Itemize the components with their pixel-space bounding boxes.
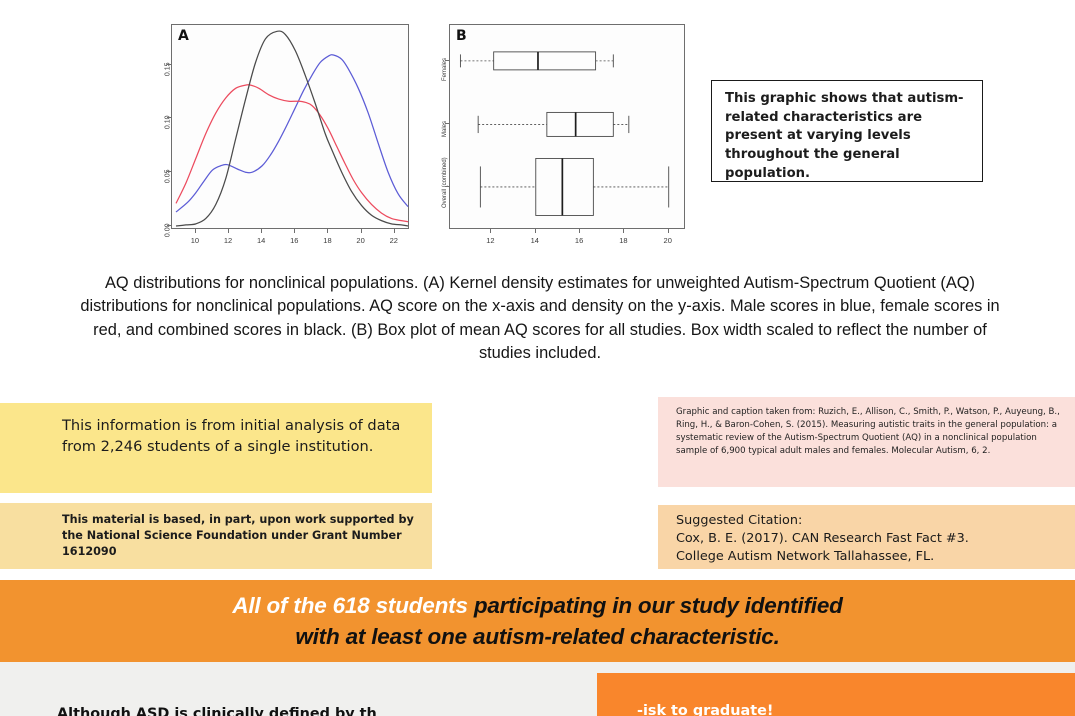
panel-b-category-label: Males [442, 121, 448, 145]
callout-box: This graphic shows that autism-related c… [711, 80, 983, 182]
panel-a-x-tick: 20 [356, 236, 364, 245]
panel-b-category-label: Overall (combined) [442, 184, 448, 208]
suggested-citation-line-2: College Autism Network Tallahassee, FL. [676, 548, 1063, 566]
info-box-source-credit: Graphic and caption taken from: Ruzich, … [658, 397, 1075, 487]
panel-b-x-tick: 12 [486, 236, 494, 245]
panel-b-plot-frame: B [449, 24, 685, 229]
panel-b-x-tick: 14 [531, 236, 539, 245]
suggested-citation-line-1: Cox, B. E. (2017). CAN Research Fast Fac… [676, 530, 1063, 548]
panel-a-density-plot: A 0.000.050.100.15 10121416182022 [153, 21, 411, 263]
bottom-left-partial-text: Although ASD is clinically defined by th [57, 704, 577, 716]
panel-b-x-tick: 18 [619, 236, 627, 245]
panel-a-x-tick: 12 [224, 236, 232, 245]
panel-a-x-tick: 18 [323, 236, 331, 245]
bottom-orange-partial-text: -isk to graduate! [637, 703, 773, 716]
panel-b-x-tick: 20 [664, 236, 672, 245]
panel-a-x-tick: 14 [257, 236, 265, 245]
poster-page: A 0.000.050.100.15 10121416182022 B Fema… [0, 0, 1075, 716]
highlight-banner: All of the 618 students participating in… [0, 580, 1075, 662]
figure-caption: AQ distributions for nonclinical populat… [74, 272, 1006, 365]
panel-b-boxes [450, 25, 686, 230]
info-box-suggested-citation: Suggested Citation: Cox, B. E. (2017). C… [658, 505, 1075, 569]
highlight-banner-text: All of the 618 students participating in… [232, 590, 842, 652]
panel-a-x-tick: 16 [290, 236, 298, 245]
info-box-nsf-funding: This material is based, in part, upon wo… [0, 503, 432, 569]
figure-row: A 0.000.050.100.15 10121416182022 B Fema… [0, 0, 1075, 262]
bottom-cutoff-section: Although ASD is clinically defined by th… [0, 662, 1075, 716]
panel-b-x-tick: 16 [575, 236, 583, 245]
panel-a-x-tick: 10 [191, 236, 199, 245]
panel-a-curves [172, 25, 410, 230]
info-box-initial-analysis: This information is from initial analysi… [0, 403, 432, 493]
panel-b-box-plot: B FemalesMalesOverall (combined) 1214161… [421, 21, 687, 263]
suggested-citation-heading: Suggested Citation: [676, 512, 1063, 530]
banner-line-2: with at least one autism-related charact… [295, 624, 779, 649]
panel-b-category-label: Females [442, 58, 448, 82]
banner-rest-phrase: participating in our study identified [468, 593, 843, 618]
banner-highlight-phrase: All of the 618 students [232, 593, 467, 618]
panel-a-plot-frame: A [171, 24, 409, 229]
panel-a-x-tick: 22 [390, 236, 398, 245]
bottom-orange-panel: -isk to graduate! [597, 673, 1075, 716]
